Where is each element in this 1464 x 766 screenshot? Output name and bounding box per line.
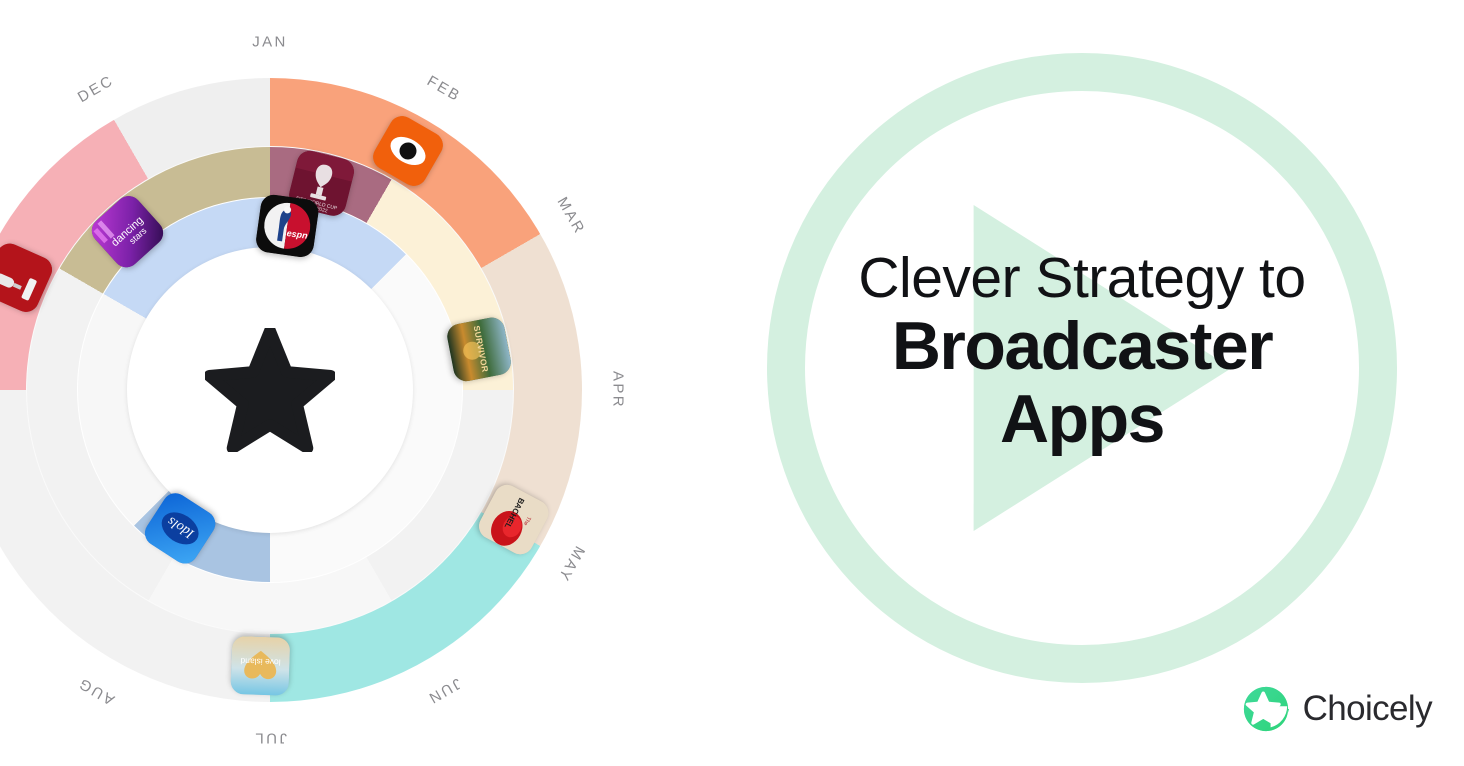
month-label-text: MAY bbox=[554, 543, 588, 585]
headline-line-3: Apps bbox=[700, 383, 1464, 456]
month-label-text: APR bbox=[610, 371, 627, 409]
title-card-panel: Clever Strategy to Broadcaster Apps Choi… bbox=[700, 0, 1464, 766]
month-label-text: FEB bbox=[424, 72, 464, 105]
choicely-star-logo-icon bbox=[1243, 686, 1289, 732]
month-label-text: MAR bbox=[554, 194, 589, 238]
headline-line-1: Clever Strategy to bbox=[700, 248, 1464, 310]
headline-line-2: Broadcaster bbox=[700, 310, 1464, 383]
month-label-text: JUL bbox=[253, 730, 287, 747]
month-label-text: JUN bbox=[424, 675, 464, 708]
headline: Clever Strategy to Broadcaster Apps bbox=[700, 248, 1464, 456]
brand-name: Choicely bbox=[1303, 689, 1432, 729]
app-icon-survivor[interactable]: SURVIVOR bbox=[445, 315, 513, 383]
app-icon-love-island[interactable]: love island bbox=[230, 636, 290, 696]
svg-text:love island: love island bbox=[240, 656, 281, 667]
app-icon-nba-espn[interactable]: espn bbox=[254, 193, 320, 259]
calendar-wheel-panel: JANFEBMARAPRMAYJUNJULAUGSEPOCTNOVDEC FIF… bbox=[0, 0, 700, 766]
brand-lockup[interactable]: Choicely bbox=[1243, 686, 1432, 732]
month-label-text: DEC bbox=[75, 72, 117, 106]
month-label-text: JAN bbox=[252, 34, 288, 51]
star-icon bbox=[205, 328, 335, 452]
month-label-text: AUG bbox=[75, 674, 118, 709]
